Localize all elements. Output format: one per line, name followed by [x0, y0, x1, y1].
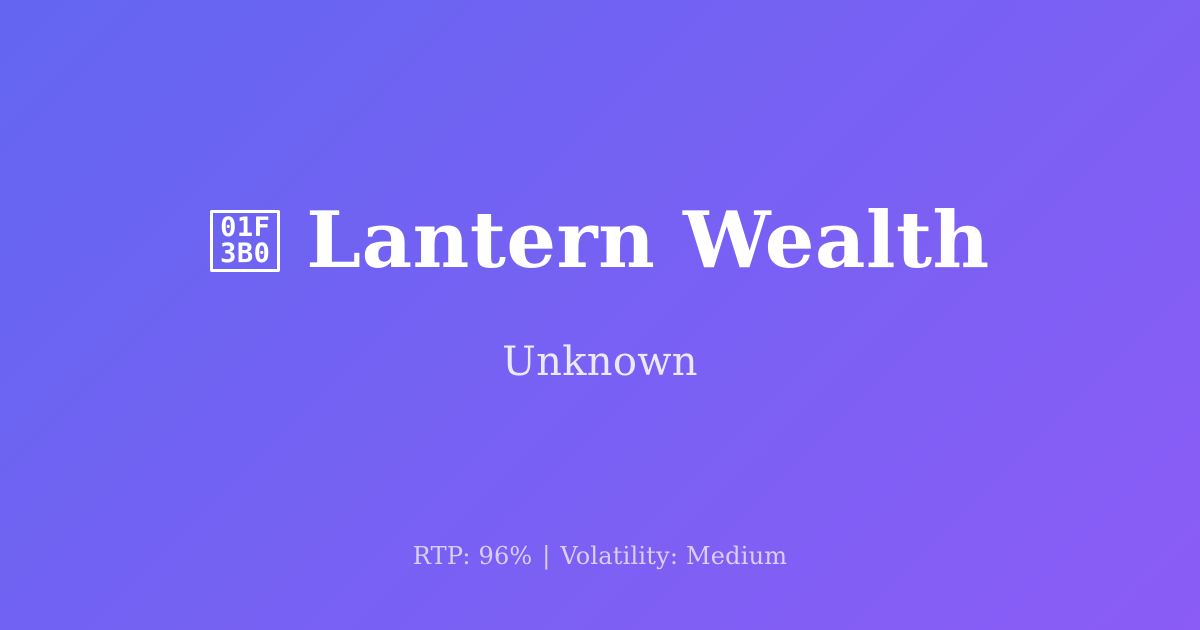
rtp-label: RTP:	[413, 542, 471, 570]
slot-machine-icon: 01F 3B0	[210, 210, 280, 272]
tofu-codepoint-row-bottom: 3B0	[220, 241, 270, 267]
page-subtitle: Unknown	[502, 342, 698, 382]
volatility-value: Medium	[686, 542, 787, 570]
page-title: Lantern Wealth	[306, 202, 989, 280]
game-share-card: 01F 3B0 Lantern Wealth Unknown RTP: 96% …	[0, 0, 1200, 630]
volatility-label: Volatility:	[560, 542, 678, 570]
rtp-value: 96%	[478, 542, 532, 570]
meta-separator: |	[540, 542, 552, 570]
hero-block: 01F 3B0 Lantern Wealth Unknown	[0, 202, 1200, 382]
title-row: 01F 3B0 Lantern Wealth	[210, 202, 989, 280]
game-meta-strip: RTP: 96% | Volatility: Medium	[0, 544, 1200, 568]
